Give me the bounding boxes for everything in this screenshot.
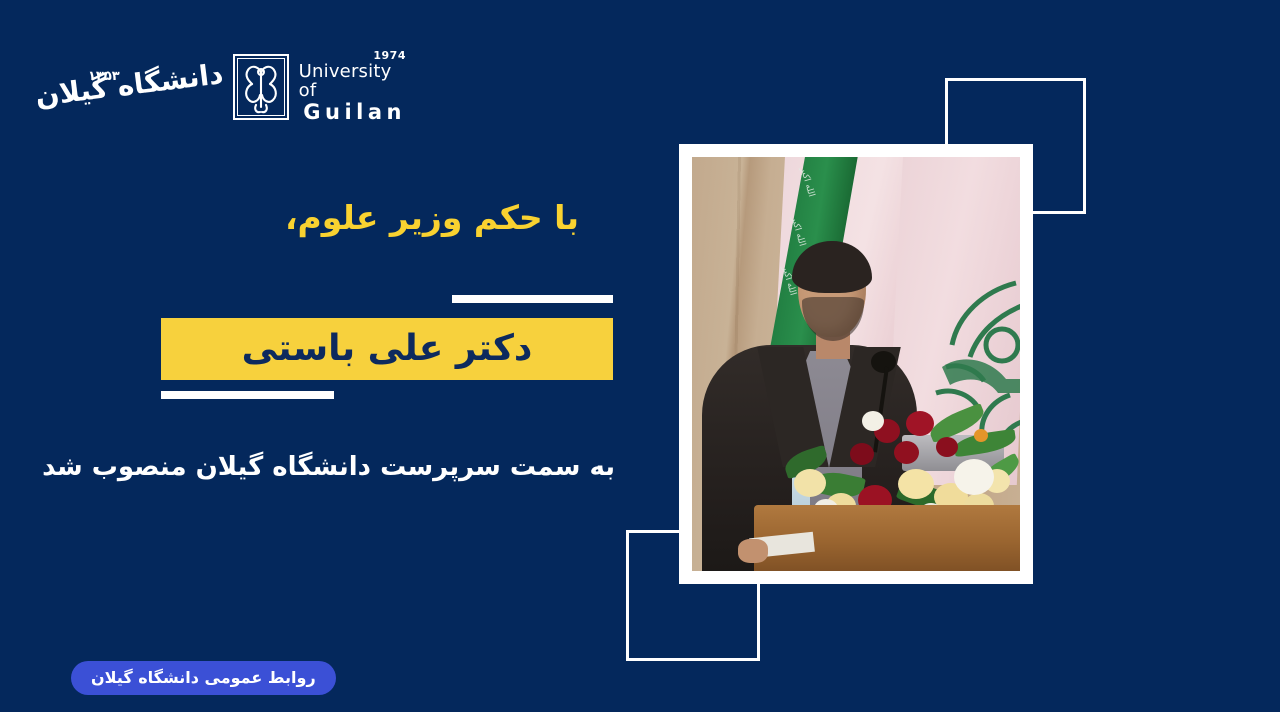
name-banner: دکتر علی باستی: [161, 318, 613, 380]
guilan-emblem-icon: [232, 53, 290, 121]
logo-guilan-label: Guilan: [303, 101, 406, 124]
logo-year-english: 1974: [373, 50, 406, 61]
headline-top-line: با حکم وزیر علوم،: [285, 198, 615, 238]
logo-english-text: 1974 University of Guilan: [299, 50, 406, 124]
speaker-photo: الله اکبر الله اکبر الله اکبر: [692, 157, 1020, 571]
logo-persian-name: دانشگاه گیلان: [103, 55, 225, 107]
university-logo: 1974 University of Guilan: [86, 46, 406, 128]
logo-persian-text: ۱۳۵۳ دانشگاه گیلان: [86, 49, 223, 125]
accent-line-bottom: [161, 391, 334, 399]
logo-university-of-label: University of: [299, 63, 406, 101]
accent-line-top: [452, 295, 613, 303]
photo-frame: الله اکبر الله اکبر الله اکبر: [679, 144, 1033, 584]
public-relations-badge: روابط عمومی دانشگاه گیلان: [71, 661, 336, 695]
appointee-name: دکتر علی باستی: [242, 331, 533, 367]
speaker-hand: [738, 539, 768, 563]
public-relations-badge-label: روابط عمومی دانشگاه گیلان: [91, 670, 316, 686]
headline-sub-line: به سمت سرپرست دانشگاه گیلان منصوب شد: [105, 450, 615, 485]
announcement-poster: 1974 University of Guilan: [0, 0, 1280, 712]
